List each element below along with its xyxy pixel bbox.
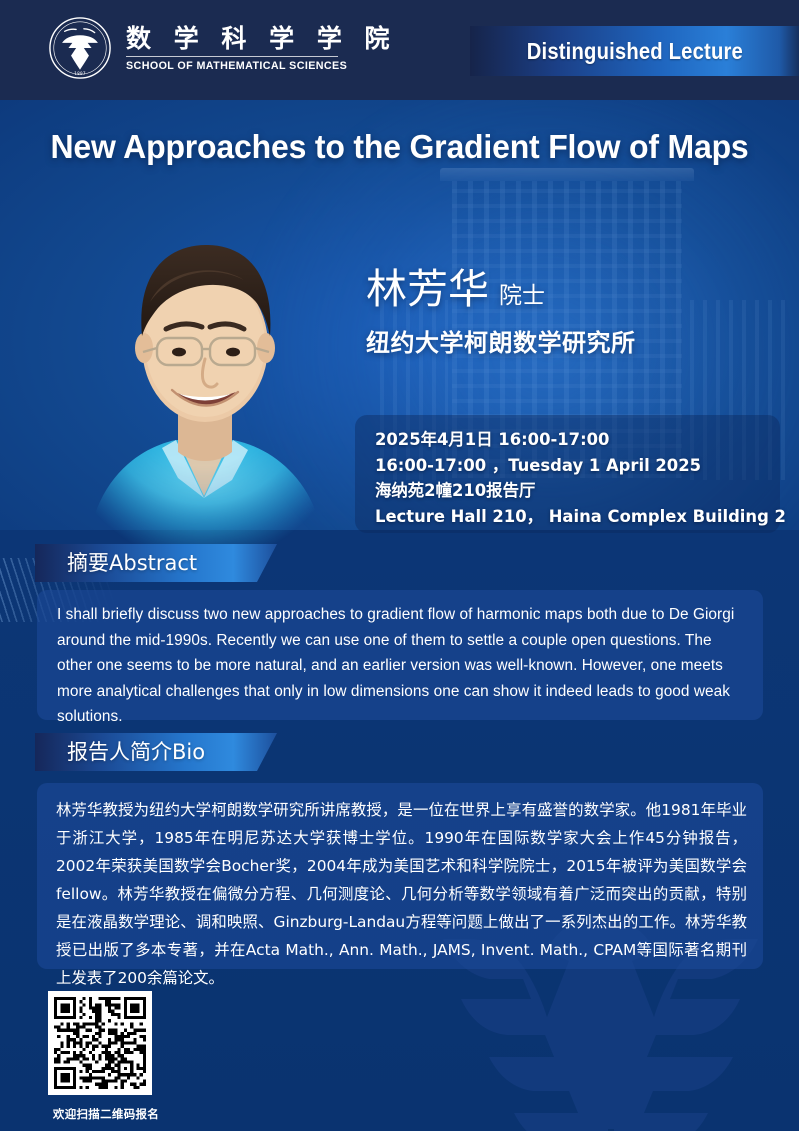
- distinguished-lecture-badge: Distinguished Lecture: [470, 26, 799, 76]
- speaker-name: 林芳华: [366, 268, 489, 311]
- poster-header: 1897 数 学 科 学 学 院 SCHOOL OF MATHEMATICAL …: [0, 0, 799, 100]
- school-logo: 1897 数 学 科 学 学 院 SCHOOL OF MATHEMATICAL …: [48, 16, 397, 80]
- abstract-section-header: 摘要Abstract: [35, 544, 277, 582]
- event-venue-en: Lecture Hall 210， Haina Complex Building…: [375, 504, 780, 530]
- school-divider: [126, 56, 338, 57]
- registration-qr-block: 欢迎扫描二维码报名: [48, 991, 164, 1122]
- event-details-box: 2025年4月1日 16:00-17:00 16:00-17:00 ，Tuesd…: [355, 415, 780, 533]
- lecture-poster: 1897 数 学 科 学 学 院 SCHOOL OF MATHEMATICAL …: [0, 0, 799, 1131]
- event-venue-cn: 海纳苑2幢210报告厅: [375, 478, 780, 504]
- school-name-cn: 数 学 科 学 学 院: [126, 25, 397, 53]
- svg-text:1897: 1897: [74, 71, 86, 76]
- event-date-en: 16:00-17:00 ，Tuesday 1 April 2025: [375, 453, 780, 479]
- bio-section-header: 报告人简介Bio: [35, 733, 277, 771]
- bio-heading-label: 报告人简介Bio: [35, 733, 277, 771]
- badge-label: Distinguished Lecture: [526, 38, 742, 65]
- speaker-honorific: 院士: [499, 276, 545, 310]
- bio-text: 林芳华教授为纽约大学柯朗数学研究所讲席教授，是一位在世界上享有盛誉的数学家。他1…: [56, 796, 747, 992]
- bio-content-box: 林芳华教授为纽约大学柯朗数学研究所讲席教授，是一位在世界上享有盛誉的数学家。他1…: [37, 783, 763, 969]
- abstract-text: I shall briefly discuss two new approach…: [57, 602, 745, 730]
- zhejiang-university-seal-icon: 1897: [48, 16, 112, 80]
- speaker-affiliation: 纽约大学柯朗数学研究所: [366, 323, 636, 358]
- event-date-cn: 2025年4月1日 16:00-17:00: [375, 427, 780, 453]
- abstract-heading-label: 摘要Abstract: [35, 544, 277, 582]
- speaker-photo: [58, 196, 350, 551]
- abstract-content-box: I shall briefly discuss two new approach…: [37, 590, 763, 720]
- speaker-info: 林芳华院士 纽约大学柯朗数学研究所: [366, 268, 636, 358]
- lecture-title: New Approaches to the Gradient Flow of M…: [18, 129, 781, 167]
- school-name-en: SCHOOL OF MATHEMATICAL SCIENCES: [126, 60, 386, 72]
- qr-caption: 欢迎扫描二维码报名: [48, 1106, 164, 1122]
- qr-code-icon[interactable]: [48, 991, 152, 1095]
